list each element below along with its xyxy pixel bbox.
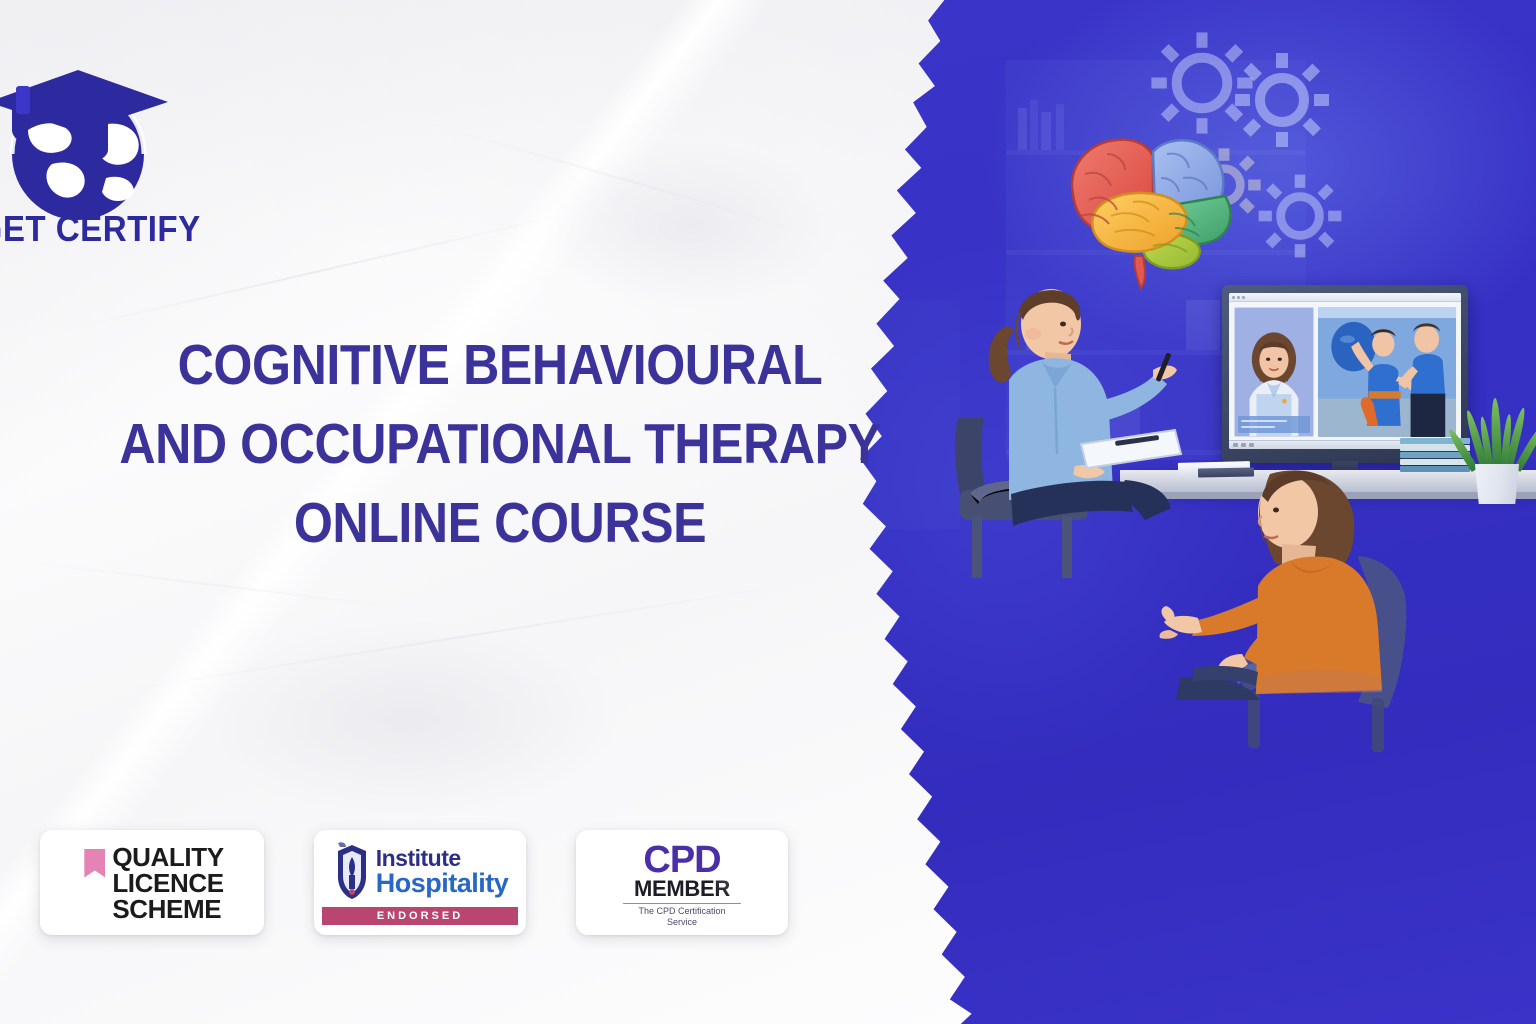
paper-smudge — [540, 140, 840, 310]
monitor-screen — [1229, 293, 1461, 449]
course-banner: COGNITIVE BEHAVIOURAL AND OCCUPATIONAL T… — [0, 0, 1536, 1024]
page-title: COGNITIVE BEHAVIOURAL AND OCCUPATIONAL T… — [0, 326, 1000, 563]
cpd-footnote-1: The CPD Certification — [638, 906, 725, 917]
client-figure — [1150, 440, 1430, 700]
therapy-demonstration-video — [1318, 307, 1456, 437]
logo-wordmark: GET CERTIFY — [0, 208, 175, 250]
cpd-title: CPD — [643, 843, 720, 877]
divider — [623, 903, 741, 904]
ioh-line-2: Hospitality — [376, 870, 509, 897]
video-caption-bar — [1238, 416, 1310, 433]
clinician-video-thumbnail — [1234, 307, 1314, 437]
paper-smudge — [200, 620, 620, 820]
snake-plant — [1455, 398, 1536, 504]
video-call-body — [1229, 302, 1461, 440]
cpd-footnote-2: Service — [638, 917, 725, 928]
badge-cpd-member[interactable]: CPD MEMBER The CPD Certification Service — [576, 830, 788, 935]
qls-line-1: QUALITY — [112, 844, 223, 870]
monitor-bezel — [1222, 285, 1468, 463]
institute-crest-icon — [332, 841, 372, 903]
window-titlebar — [1229, 293, 1461, 302]
cpd-subtitle: MEMBER — [634, 877, 730, 901]
paper-crease — [20, 560, 397, 608]
video-titlebar — [1318, 307, 1456, 318]
title-line-2: AND OCCUPATIONAL THERAPY — [60, 405, 940, 484]
badge-quality-licence-scheme[interactable]: QUALITY LICENCE SCHEME — [40, 830, 264, 935]
accreditation-badges: QUALITY LICENCE SCHEME — [40, 830, 788, 935]
plant-pot — [1473, 464, 1521, 504]
get-certify-logo[interactable]: GET CERTIFY — [0, 26, 192, 244]
title-line-3: ONLINE COURSE — [60, 484, 940, 563]
bookmark-ribbon-icon — [84, 849, 105, 878]
title-line-1: COGNITIVE BEHAVIOURAL — [60, 326, 940, 405]
qls-line-3: SCHEME — [112, 896, 223, 922]
ioh-line-1: Institute — [376, 847, 461, 870]
ioh-endorsed-ribbon: ENDORSED — [322, 907, 518, 925]
qls-line-2: LICENCE — [112, 870, 223, 896]
badge-institute-of-hospitality[interactable]: Institute Hospitality ENDORSED — [314, 830, 526, 935]
